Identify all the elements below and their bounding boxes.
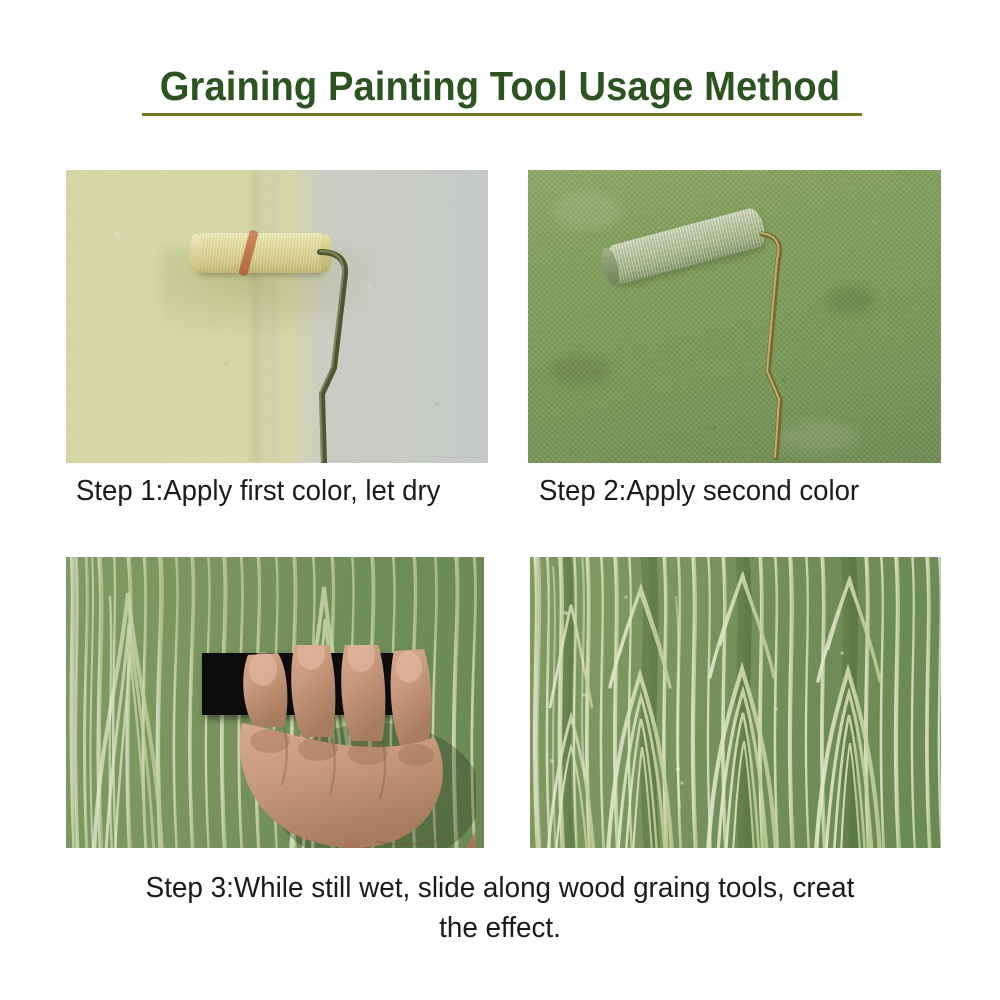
wall-blotch-a (552, 192, 622, 230)
page-title: Graining Painting Tool Usage Method (35, 62, 965, 110)
roller-red-stripe (238, 230, 259, 277)
step-3-image (66, 557, 484, 848)
title-underline-rule (142, 113, 862, 116)
step-2-image (528, 170, 941, 463)
title-block: Graining Painting Tool Usage Method (0, 62, 1000, 110)
step-1-caption: Step 1:Apply first color, let dry (76, 473, 440, 509)
poster-root: Graining Painting Tool Usage Method (0, 0, 1000, 1000)
hand-holding-tool (226, 645, 476, 848)
step-3-result-image (530, 557, 941, 848)
paint-roller-cream (194, 233, 328, 273)
roller-end-cap-left (189, 234, 203, 272)
step-2-caption: Step 2:Apply second color (539, 473, 859, 509)
roller-wire-handle (746, 230, 836, 460)
roller-wire-handle (312, 248, 408, 463)
wall-blotch-c (550, 356, 610, 386)
step-3-caption-line-1: Step 3:While still wet, slide along wood… (20, 868, 980, 908)
step-3-caption-line-2: the effect. (20, 908, 980, 948)
wood-grain-pattern-finished (530, 557, 941, 848)
step-1-image (66, 170, 488, 463)
step-3-caption: Step 3:While still wet, slide along wood… (20, 868, 980, 948)
